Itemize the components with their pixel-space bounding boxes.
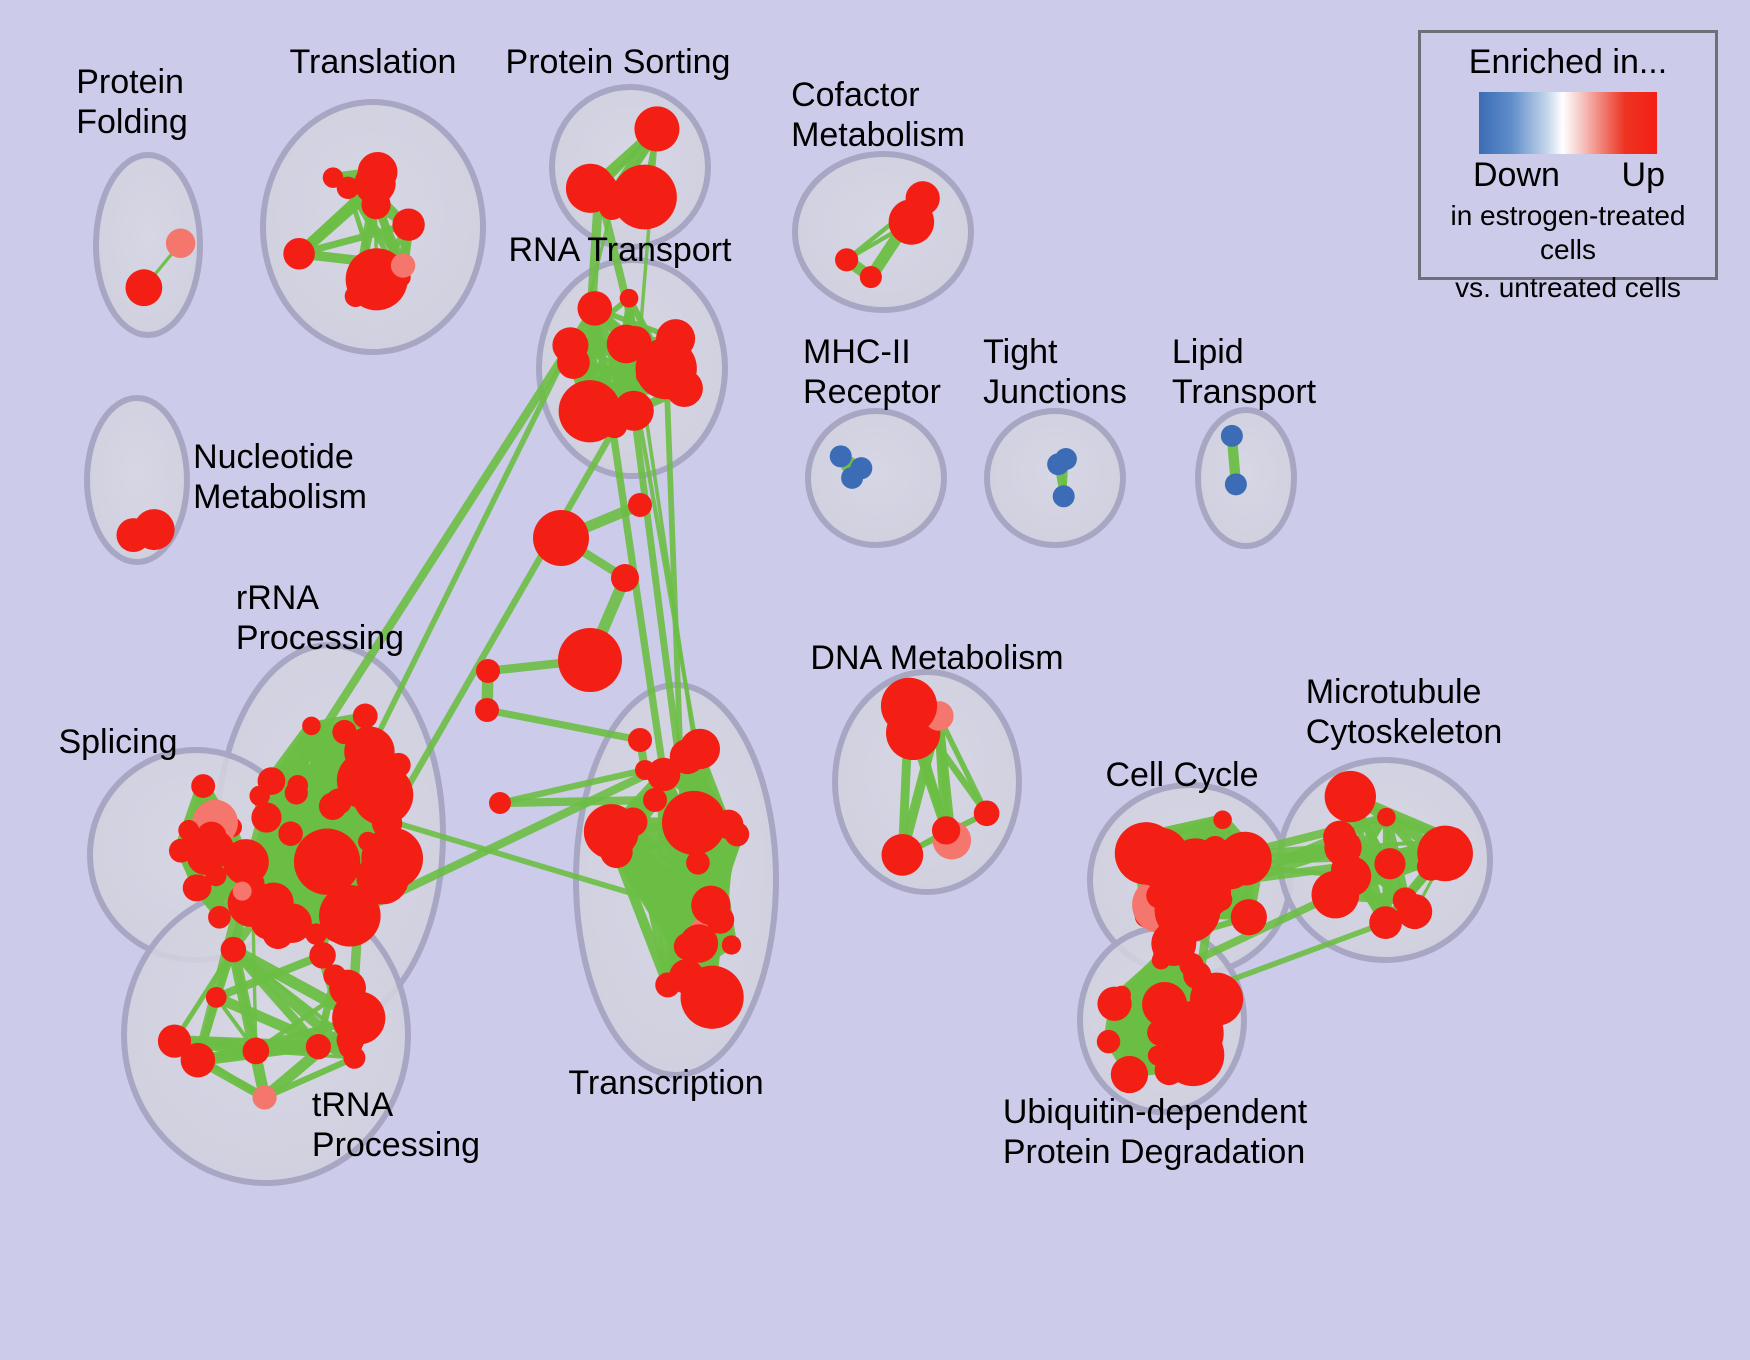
network-node [332,720,356,744]
network-node [1097,1030,1120,1053]
network-node [1221,425,1243,447]
network-node [329,970,366,1007]
network-node [620,289,639,308]
cluster-label-splicing: Splicing [58,722,177,762]
network-node [1115,822,1177,884]
network-node [674,933,701,960]
network-node [196,822,226,852]
legend-caption-line-1: in estrogen-treated cells [1421,199,1715,267]
network-node [882,834,924,876]
cluster-ellipse [987,411,1123,545]
network-node [294,829,360,895]
network-node [1168,838,1223,893]
network-node [618,807,647,836]
network-node [1225,473,1247,495]
network-node [722,935,741,954]
cluster-label-tight-junctions: Tight Junctions [983,332,1127,412]
network-node [1417,826,1473,882]
network-node [1053,485,1075,507]
network-node [476,659,500,683]
network-node [258,767,286,795]
network-node [669,959,704,994]
network-node [643,788,667,812]
network-node [233,882,252,901]
network-node [1231,899,1267,935]
cluster-label-rna-transport: RNA Transport [509,230,732,270]
network-node [1374,848,1405,879]
network-node [489,792,511,814]
network-node [125,269,162,306]
network-node [634,106,679,151]
network-node [272,903,312,943]
network-node [353,704,378,729]
legend-color-gradient-bar [1479,92,1657,154]
cluster-label-dna-metabolism: DNA Metabolism [810,638,1063,678]
network-node [860,266,882,288]
legend-caption-line-2: vs. untreated cells [1421,271,1715,305]
network-node [319,792,347,820]
cluster-label-nucleotide-metabolism: Nucleotide Metabolism [193,437,367,517]
network-node [628,493,652,517]
network-node [666,370,703,407]
network-node [628,728,652,752]
network-node [1377,808,1396,827]
network-node [557,346,590,379]
network-node [306,1034,331,1059]
cluster-label-cofactor-metabolism: Cofactor Metabolism [791,75,965,155]
network-node [116,518,150,552]
network-node [533,510,589,566]
network-node [830,445,852,467]
cluster-label-microtubule-cytoskeleton: Microtubule Cytoskeleton [1306,672,1503,752]
network-node [1369,906,1402,939]
network-node [580,171,618,209]
cluster-ellipse [1198,410,1294,546]
network-node [1323,821,1356,854]
network-node [283,238,315,270]
network-node [343,1047,365,1069]
network-node [835,248,858,271]
legend-box: Enriched in... Down Up in estrogen-treat… [1418,30,1718,280]
legend-high-label: Up [1622,156,1665,195]
network-node [208,906,231,929]
network-node [932,816,960,844]
network-node [706,906,734,934]
network-node [166,229,195,258]
cluster-label-translation: Translation [290,42,457,82]
network-node [1152,951,1171,970]
network-node [391,253,415,277]
network-node [1325,771,1376,822]
cluster-ellipse [808,411,944,545]
network-node [558,628,622,692]
network-node [181,1043,216,1078]
network-node [1111,1056,1148,1093]
network-node [636,366,655,385]
network-node [881,678,937,734]
network-node [309,942,335,968]
network-node [206,987,227,1008]
enrichment-map-figure: Protein Folding Translation Protein Sort… [0,0,1750,1360]
network-node [597,413,621,437]
network-node [577,291,612,326]
cluster-label-ubiquitin-protein-degradation: Ubiquitin-dependent Protein Degradation [1003,1092,1307,1172]
network-node [221,937,247,963]
network-node [1393,887,1418,912]
network-node [302,717,321,736]
network-node [1331,858,1354,881]
network-node [252,1085,276,1109]
network-node [354,163,395,204]
legend-title: Enriched in... [1421,43,1715,82]
cluster-label-trna-processing: tRNA Processing [312,1085,480,1165]
cluster-label-lipid-transport: Lipid Transport [1172,332,1316,412]
legend-low-label: Down [1473,156,1560,195]
network-node [352,764,413,825]
network-node [974,800,1000,826]
network-node [635,760,655,780]
network-node [251,802,281,832]
cluster-label-protein-folding: Protein Folding [76,62,188,142]
network-node [841,467,863,489]
network-node [1162,1024,1224,1086]
network-node [349,739,379,769]
network-node [278,821,303,846]
network-node [1213,811,1232,830]
network-node [392,208,424,240]
network-node [243,1038,270,1065]
network-node [1112,986,1130,1004]
network-node [656,319,695,358]
network-node [191,774,215,798]
network-node [612,165,677,230]
network-node [618,326,651,359]
network-node [1190,973,1243,1026]
network-node [611,564,639,592]
network-node [178,820,199,841]
network-node [600,836,632,868]
network-node [323,167,343,187]
network-node [1146,883,1172,909]
cluster-label-transcription: Transcription [568,1063,763,1103]
cluster-label-mhc-ii-receptor: MHC-II Receptor [803,332,941,412]
network-node [285,781,308,804]
network-node [183,874,210,901]
network-node [1047,453,1069,475]
network-node [889,199,935,245]
network-node [356,852,409,905]
network-node [1179,953,1203,977]
cluster-label-protein-sorting: Protein Sorting [506,42,731,82]
network-node [725,822,749,846]
network-edge [500,800,655,803]
network-node [576,389,595,408]
network-node [475,698,499,722]
cluster-label-cell-cycle: Cell Cycle [1105,755,1258,795]
cluster-label-rrna-processing: rRNA Processing [236,578,404,658]
